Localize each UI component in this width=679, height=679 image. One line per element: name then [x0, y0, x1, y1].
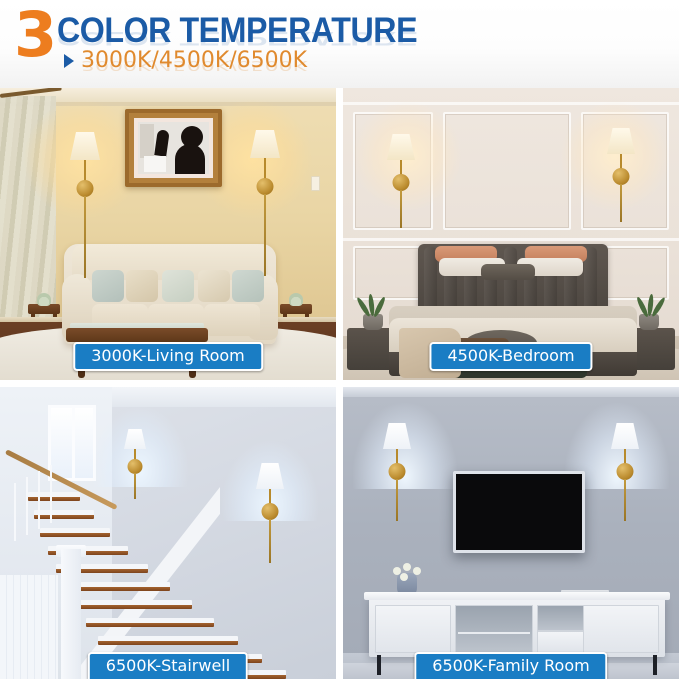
media-console — [369, 597, 665, 657]
cabinet-door-left[interactable] — [375, 605, 451, 653]
lamp-shade-icon — [256, 463, 284, 489]
scene-grid: 3000K-Living Room — [0, 88, 679, 679]
wall-sconce-left — [70, 132, 100, 282]
sconce-stem — [624, 479, 626, 521]
sconce-stem — [134, 473, 136, 499]
plant-left — [37, 293, 51, 306]
lamp-shade-icon — [607, 128, 635, 154]
product-infographic: 3 COLOR TEMPERATURE COLOR TEMPERATURE 30… — [0, 0, 679, 679]
sconce-stem — [400, 190, 402, 228]
sconce-backplate — [77, 180, 94, 197]
wall-rail — [343, 238, 679, 241]
sconce-neck — [264, 158, 266, 180]
wall-sconce-right — [607, 128, 635, 222]
wall-sconce-right — [256, 463, 284, 559]
throw-pillow — [162, 270, 194, 302]
pillow-lumbar — [481, 264, 535, 280]
scene-stairwell: 6500K-Stairwell — [0, 387, 336, 679]
badge-living-room: 3000K-Living Room — [73, 342, 263, 371]
badge-stairwell: 6500K-Stairwell — [88, 652, 248, 679]
header-banner: 3 COLOR TEMPERATURE COLOR TEMPERATURE 30… — [0, 0, 679, 88]
plant-right — [289, 293, 303, 306]
wall-panel — [443, 112, 571, 230]
wall-sconce-left — [387, 134, 415, 228]
scene-family-room: 6500K-Family Room — [343, 387, 679, 679]
abstract-art — [138, 122, 209, 174]
sconce-backplate — [262, 503, 279, 520]
sconce-backplate — [613, 168, 630, 185]
wall-sconce-left — [124, 429, 146, 491]
light-switch[interactable] — [311, 176, 320, 191]
wall-sconce-left — [383, 423, 411, 519]
lamp-shade-icon — [124, 429, 146, 449]
window — [48, 405, 96, 481]
wall-sconce-right — [250, 130, 280, 280]
sconce-stem — [84, 196, 86, 278]
sconce-backplate — [393, 174, 410, 191]
wainscoting — [0, 575, 58, 679]
header-number: 3 — [14, 4, 55, 66]
lamp-shade-icon — [70, 132, 100, 160]
sconce-backplate — [389, 463, 406, 480]
wall-sconce-right — [611, 423, 639, 519]
triangle-right-icon — [64, 54, 74, 68]
lamp-shade-icon — [250, 130, 280, 158]
cabinet-door-right[interactable] — [583, 605, 659, 653]
sconce-stem — [264, 194, 266, 276]
page-title: COLOR TEMPERATURE — [57, 13, 417, 48]
sconce-stem — [620, 184, 622, 222]
lamp-shade-icon — [387, 134, 415, 160]
throw-pillow — [198, 270, 230, 302]
plant-pot-right — [639, 314, 659, 330]
badge-bedroom: 4500K-Bedroom — [429, 342, 592, 371]
framed-artwork — [125, 109, 222, 187]
console-top — [364, 592, 670, 600]
lamp-shade-icon — [611, 423, 639, 449]
sconce-backplate — [617, 463, 634, 480]
scene-living-room: 3000K-Living Room — [0, 88, 336, 380]
television — [453, 471, 585, 553]
lamp-shade-icon — [383, 423, 411, 449]
open-shelf-left — [455, 605, 533, 653]
ceiling — [343, 387, 679, 397]
newel-post — [61, 549, 81, 679]
sconce-stem — [396, 479, 398, 521]
scene-bedroom: 4500K-Bedroom — [343, 88, 679, 380]
sconce-neck — [84, 160, 86, 182]
badge-family-room: 6500K-Family Room — [414, 652, 607, 679]
header-subtitle-row: 3000K/4500K/6500K — [64, 49, 307, 73]
sconce-stem — [269, 519, 271, 563]
sconce-backplate — [257, 178, 274, 195]
header-subtitle: 3000K/4500K/6500K — [81, 49, 307, 73]
throw-pillow — [126, 270, 158, 302]
sconce-backplate — [128, 459, 143, 474]
